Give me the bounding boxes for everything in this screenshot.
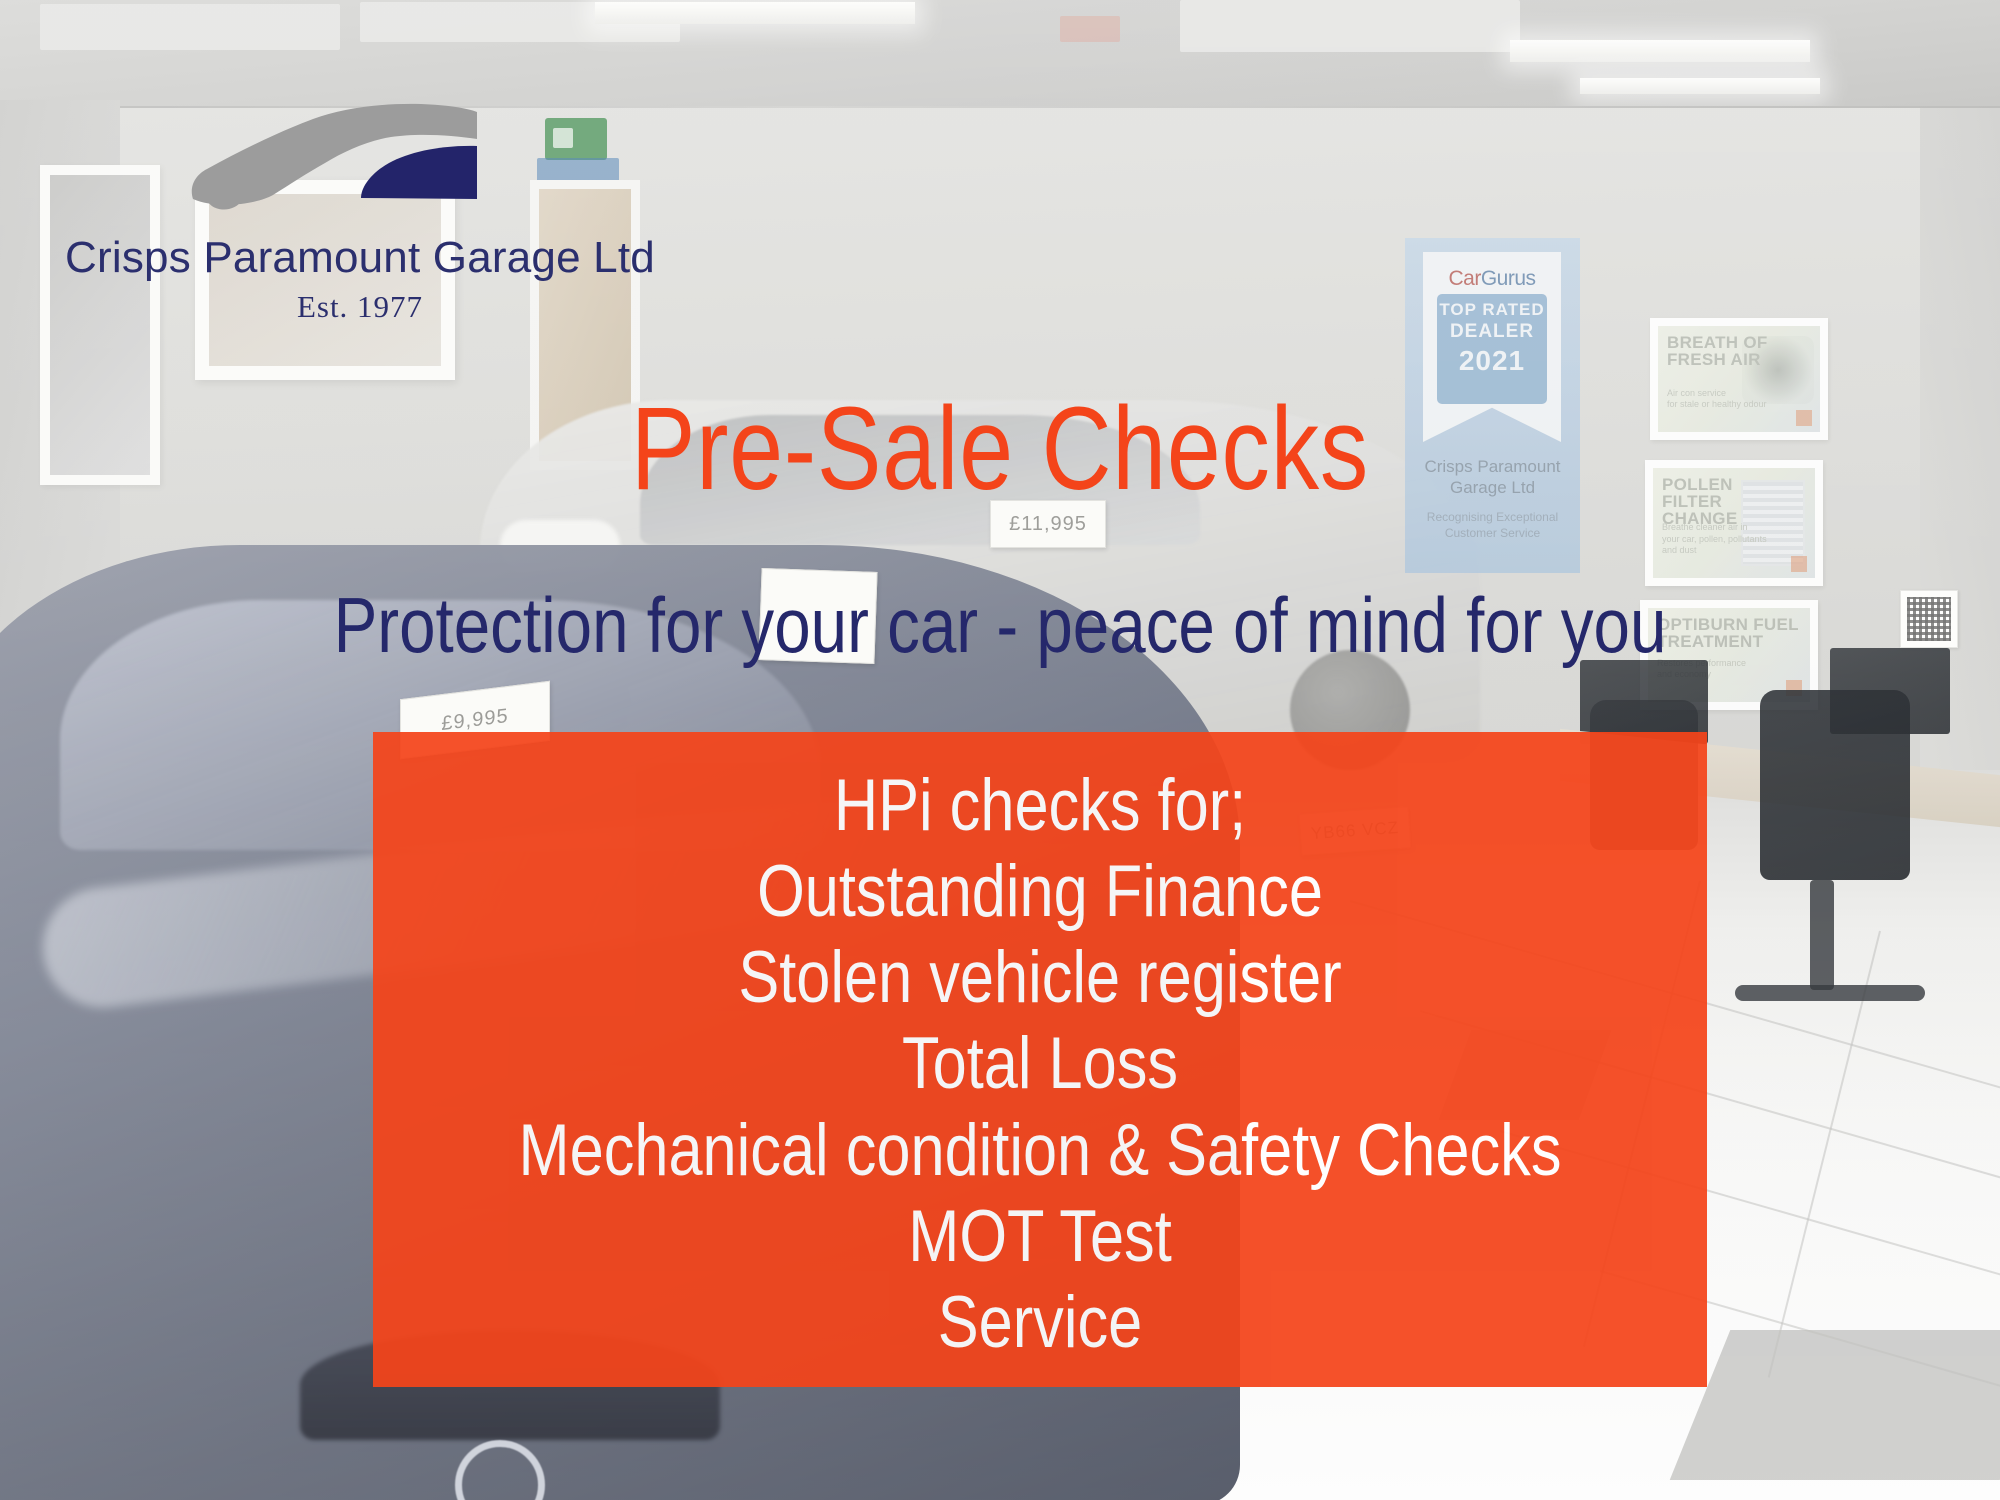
ceiling-tile	[1180, 0, 1520, 52]
check-item: Outstanding Finance	[480, 849, 1601, 935]
banner-tagline: Recognising Exceptional Customer Service	[1405, 510, 1580, 541]
ceiling-light	[1580, 78, 1820, 94]
checks-panel: HPi checks for; Outstanding Finance Stol…	[373, 732, 1707, 1387]
page-title: Pre-Sale Checks	[180, 390, 1820, 508]
badge-year: 2021	[1437, 345, 1547, 377]
badge-line-1: TOP RATED	[1437, 300, 1547, 320]
logo-company-name: Crisps Paramount Garage Ltd	[40, 233, 680, 283]
check-item: Total Loss	[480, 1021, 1601, 1107]
ceiling-tile	[40, 4, 340, 50]
badge-line-2: DEALER	[1437, 321, 1547, 343]
poster-body: Breathe cleaner air in your car, pollen,…	[1662, 522, 1767, 556]
check-item: Stolen vehicle register	[480, 935, 1601, 1021]
ceiling-vent	[1060, 16, 1120, 42]
poster-heading: BREATH OF FRESH AIR	[1667, 334, 1768, 368]
chair-base	[1735, 985, 1925, 1001]
poster-brand-mark	[1791, 556, 1807, 572]
check-item: Mechanical condition & Safety Checks	[480, 1108, 1601, 1194]
cargurus-logo-text: CarGurus	[1423, 267, 1561, 291]
company-logo: Crisps Paramount Garage Ltd Est. 1977	[40, 95, 680, 325]
check-item: Service	[480, 1280, 1601, 1366]
qr-code	[1900, 590, 1958, 648]
office-chair	[1760, 690, 1910, 880]
ceiling-light	[1510, 40, 1810, 62]
check-item: HPi checks for;	[480, 763, 1601, 849]
page-subtitle: Protection for your car - peace of mind …	[160, 586, 1840, 664]
check-item: MOT Test	[480, 1194, 1601, 1280]
chair-column	[1810, 880, 1834, 990]
ceiling-light	[595, 2, 915, 24]
presale-checks-slide: £11,995 £9,995 YB66 VCZ CarGurus TOP RAT…	[0, 0, 2000, 1500]
car-silhouette-logo-icon	[185, 95, 485, 225]
top-rated-badge: TOP RATED DEALER 2021	[1437, 294, 1547, 404]
logo-established: Est. 1977	[40, 289, 680, 325]
